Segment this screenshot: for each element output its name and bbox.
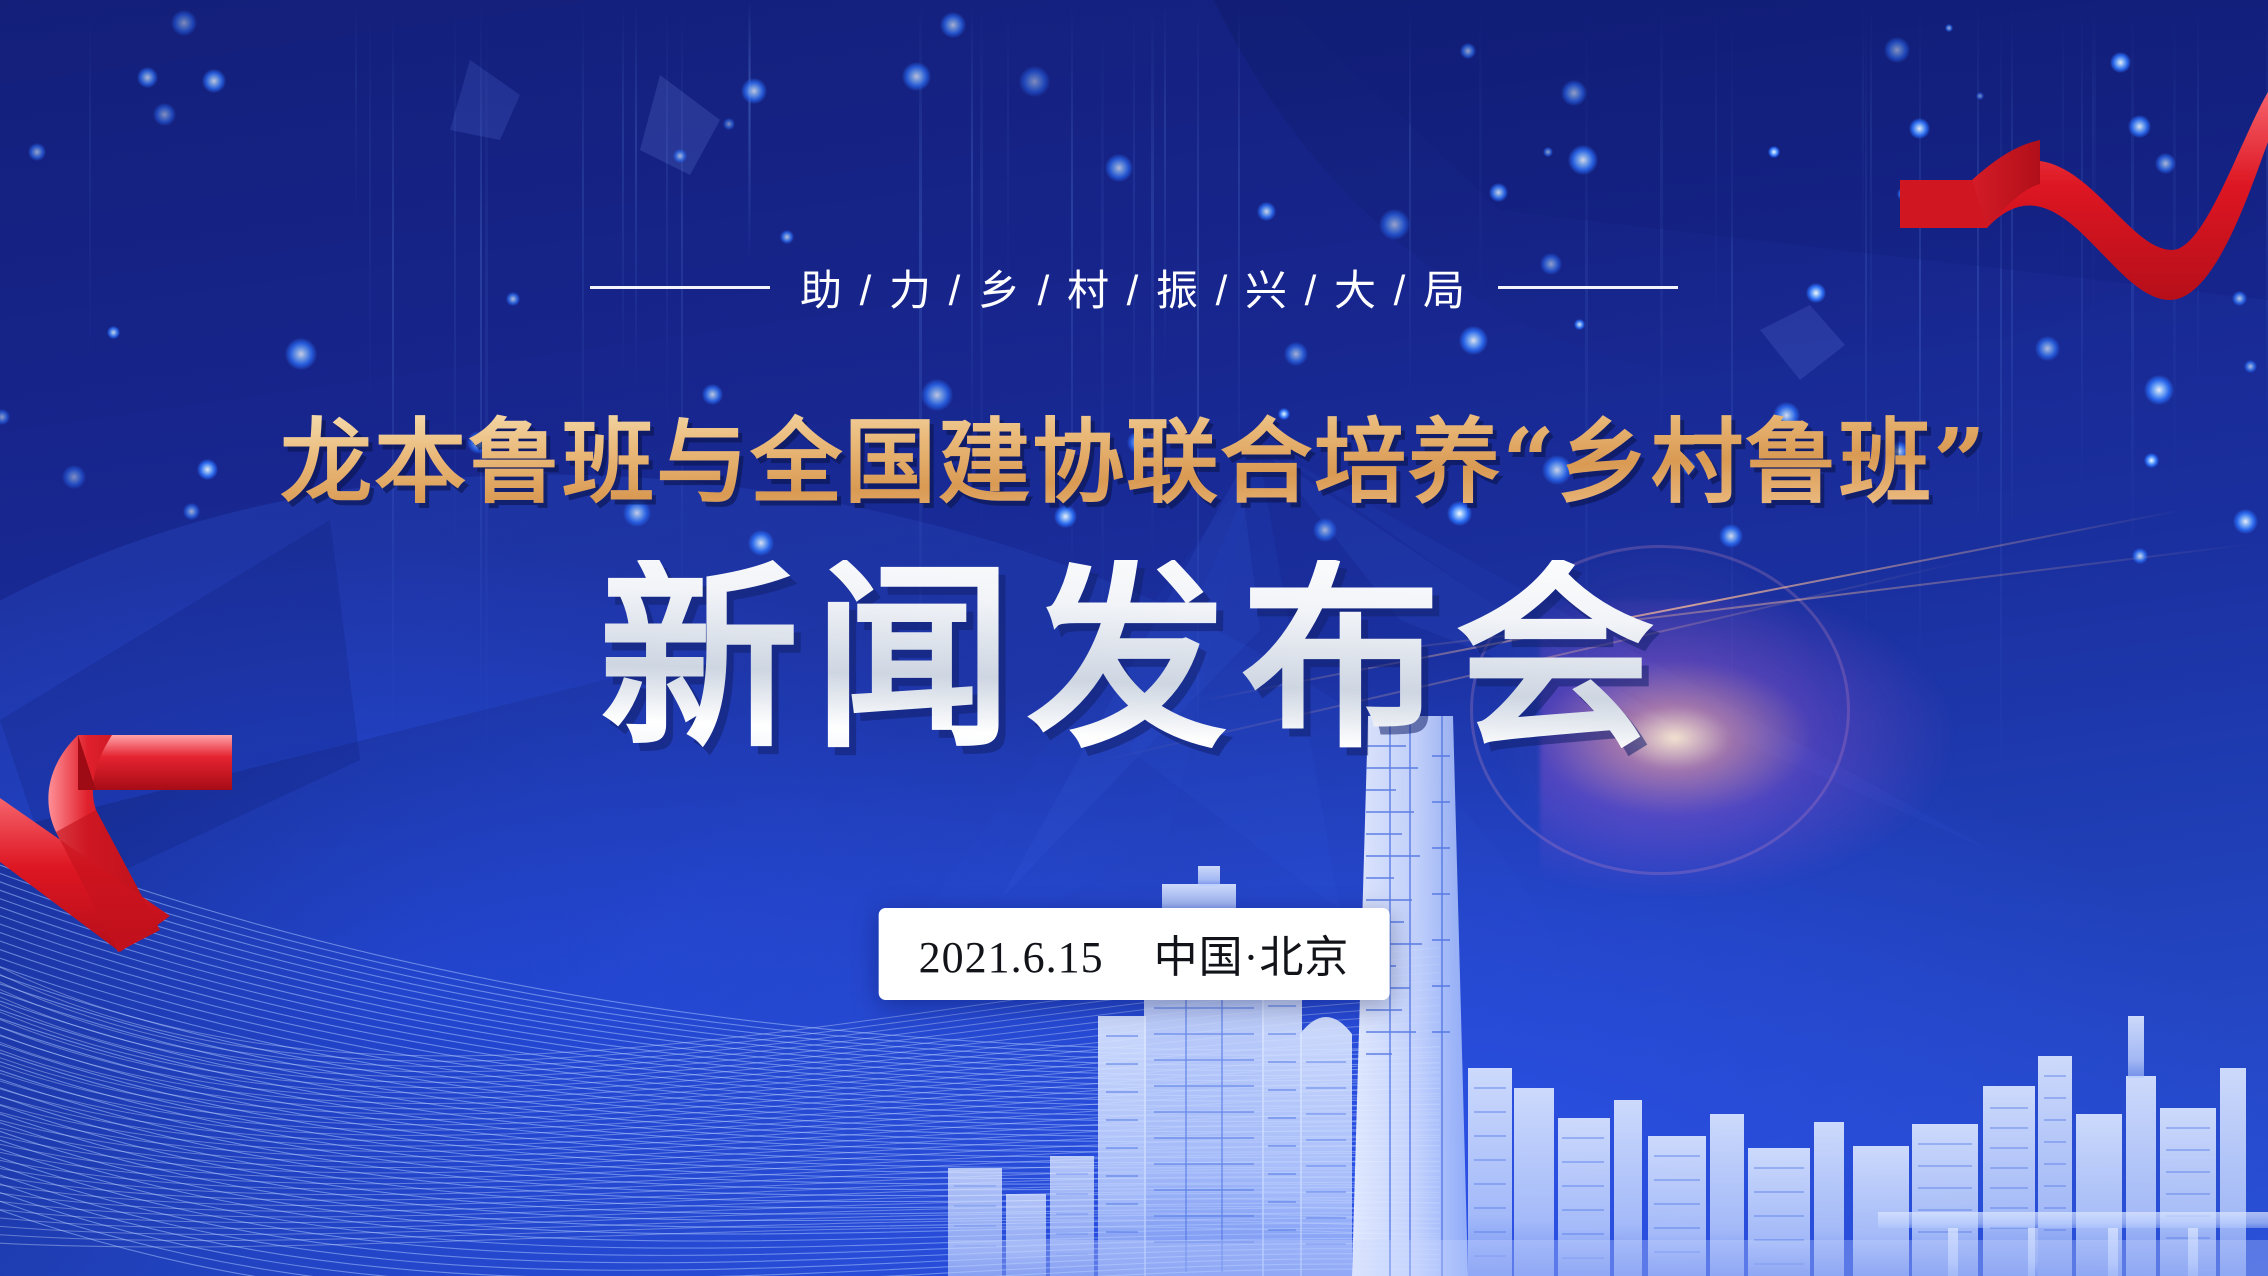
poster-canvas: 助 / 力 / 乡 / 村 / 振 / 兴 / 大 / 局 龙本鲁班与全国建协联…: [0, 0, 2268, 1276]
event-location: 中国·北京: [1154, 933, 1350, 982]
headline: 新闻发布会: [0, 560, 2268, 760]
poster-content: 助 / 力 / 乡 / 村 / 振 / 兴 / 大 / 局 龙本鲁班与全国建协联…: [0, 0, 2268, 1276]
gold-title: 龙本鲁班与全国建协联合培养“乡村鲁班”: [0, 388, 2268, 521]
tagline-row: 助 / 力 / 乡 / 村 / 振 / 兴 / 大 / 局: [0, 252, 2268, 322]
rule-left-icon: [590, 286, 770, 289]
date-location-badge: 2021.6.15 中国·北京: [879, 908, 1390, 1000]
event-date: 2021.6.15: [919, 933, 1104, 982]
rule-right-icon: [1498, 286, 1678, 289]
tagline-text: 助 / 力 / 乡 / 村 / 振 / 兴 / 大 / 局: [800, 257, 1468, 318]
